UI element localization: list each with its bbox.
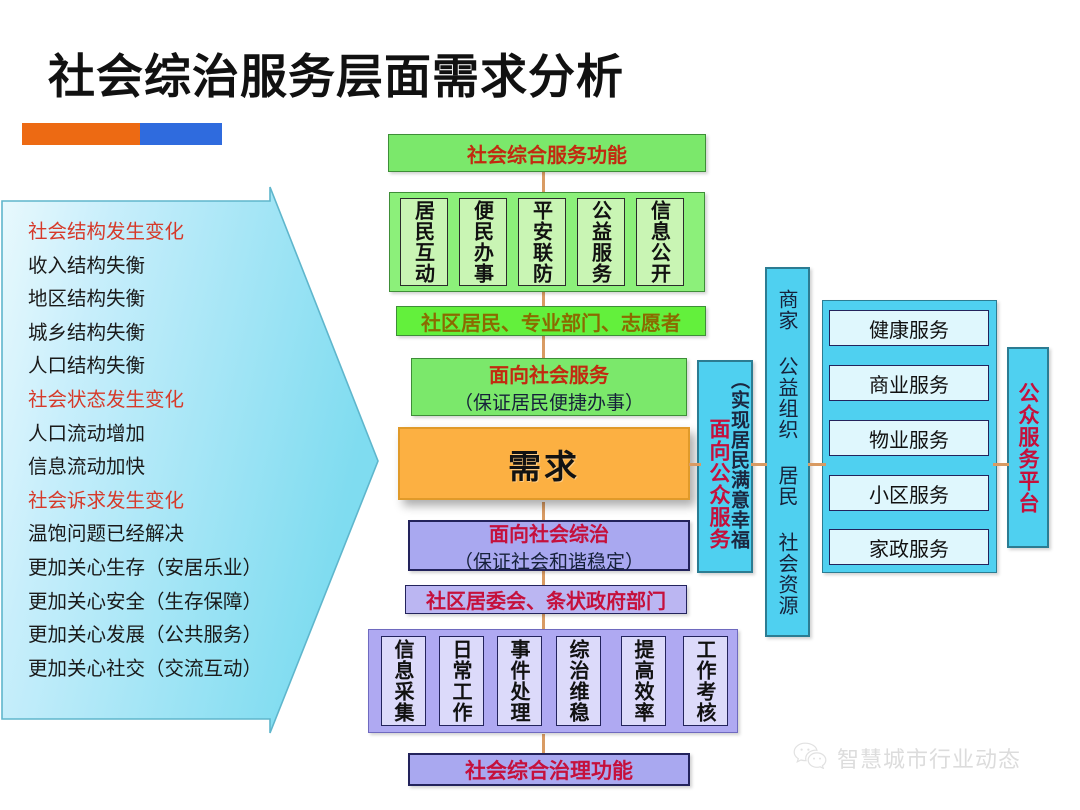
list-item: 更加关心发展（公共服务） — [28, 618, 318, 652]
governance-cell[interactable]: 提高效率 — [621, 636, 666, 726]
demand-box: 需求 — [398, 427, 690, 500]
public-service-item[interactable]: 商业服务 — [829, 365, 989, 401]
service-cell[interactable]: 信息公开 — [636, 198, 684, 286]
list-item: 社会诉求发生变化 — [28, 484, 318, 518]
service-cell[interactable]: 公益服务 — [577, 198, 625, 286]
service-actors: 社区居民、专业部门、志愿者 — [396, 306, 706, 336]
list-item: 人口结构失衡 — [28, 349, 318, 383]
connector-demand-to-public — [689, 463, 701, 466]
governance-cell[interactable]: 工作考核 — [683, 636, 728, 726]
page-title: 社会综治服务层面需求分析 — [48, 38, 624, 107]
service-cell[interactable]: 居民互动 — [400, 198, 448, 286]
service-subtitle-box: 面向社会服务 （保证居民便捷办事） — [411, 358, 687, 416]
list-item: 人口流动增加 — [28, 417, 318, 451]
list-item: 更加关心社交（交流互动） — [28, 652, 318, 686]
list-item: 更加关心安全（生存保障） — [28, 585, 318, 619]
accent-bar-blue — [140, 123, 222, 145]
connector-vertical-gov-footer — [542, 734, 545, 754]
governance-subtitle-box: 面向社会综治 （保证社会和谐稳定） — [408, 520, 690, 571]
list-item: 温饱问题已经解决 — [28, 517, 318, 551]
public-service-platform: 公众服务平台 — [1007, 347, 1049, 548]
diagram-canvas: 社会综治服务层面需求分析 社会结构发生变化 收入结构失衡 地区结构失衡 城乡结构… — [0, 0, 1080, 810]
service-cell[interactable]: 便民办事 — [459, 198, 507, 286]
list-item: 社会状态发生变化 — [28, 383, 318, 417]
public-service-item[interactable]: 物业服务 — [829, 420, 989, 456]
public-service-item[interactable]: 家政服务 — [829, 529, 989, 565]
governance-cell[interactable]: 日常工作 — [439, 636, 484, 726]
public-service-column: 面向公众服务 （实现居民满意幸福 — [697, 360, 753, 573]
governance-cell[interactable]: 信息采集 — [381, 636, 426, 726]
governance-cell[interactable]: 事件处理 — [497, 636, 542, 726]
connector-resources-to-services — [808, 463, 826, 466]
service-cell[interactable]: 平安联防 — [518, 198, 566, 286]
governance-cell[interactable]: 综治维稳 — [556, 636, 601, 726]
public-service-column-note: （实现居民满意幸福 — [726, 370, 753, 568]
list-item: 社会结构发生变化 — [28, 215, 318, 249]
list-item: 地区结构失衡 — [28, 282, 318, 316]
watermark-text: 智慧城市行业动态 — [837, 742, 1021, 774]
watermark: 智慧城市行业动态 — [793, 742, 1021, 774]
public-service-item[interactable]: 健康服务 — [829, 310, 989, 346]
connector-vertical-actors-sub — [542, 336, 545, 358]
accent-bar-orange — [22, 123, 140, 145]
left-panel-list: 社会结构发生变化 收入结构失衡 地区结构失衡 城乡结构失衡 人口结构失衡 社会状… — [28, 215, 318, 685]
list-item: 收入结构失衡 — [28, 249, 318, 283]
list-item: 城乡结构失衡 — [28, 316, 318, 350]
connector-public-to-resources — [751, 463, 767, 466]
accent-bar — [22, 123, 222, 145]
service-header: 社会综合服务功能 — [388, 134, 706, 172]
governance-footer: 社会综合治理功能 — [408, 753, 690, 786]
connector-services-to-platform — [993, 463, 1009, 466]
list-item: 更加关心生存（安居乐业） — [28, 551, 318, 585]
list-item: 信息流动加快 — [28, 450, 318, 484]
governance-actors: 社区居委会、条状政府部门 — [405, 585, 687, 614]
resource-actors-column: 商家 公益组织 居民 社会资源 — [765, 267, 810, 637]
public-service-item[interactable]: 小区服务 — [829, 475, 989, 511]
wechat-icon — [793, 742, 827, 774]
